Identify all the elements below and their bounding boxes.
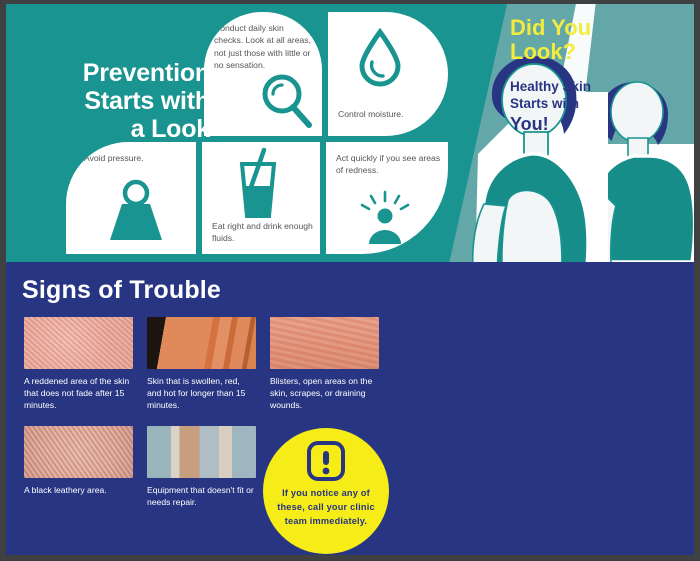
sign-caption: A black leathery area.: [24, 484, 133, 496]
did-you-look-heading: Did You Look?: [510, 16, 686, 64]
sign-item-blisters-open-areas: Blisters, open areas on the skin, scrape…: [270, 317, 379, 412]
sign-item-swollen-red-hot: Skin that is swollen, red, and hot for l…: [147, 317, 256, 412]
alert-text: If you notice any of these, call your cl…: [270, 487, 382, 528]
healthy-line-2: Starts with: [510, 95, 686, 112]
tile-avoid-pressure: Avoid pressure.: [66, 142, 196, 254]
signs-row-1: A reddened area of the skin that does no…: [24, 317, 380, 412]
tile-caption: Act quickly if you see areas of redness.: [336, 152, 446, 177]
tile-caption: Avoid pressure.: [84, 152, 194, 164]
tile-caption: Conduct daily skin checks. Look at all a…: [214, 22, 314, 72]
healthy-line-1: Healthy Skin: [510, 78, 686, 95]
headline-line-1: Prevention: [30, 59, 210, 87]
healthy-skin-subheading: Healthy Skin Starts with You!: [510, 78, 686, 136]
tile-caption: Eat right and drink enough fluids.: [212, 220, 316, 245]
did-you-line: Did You: [510, 16, 686, 40]
healthy-line-3: You!: [510, 113, 686, 136]
tile-control-moisture: Control moisture.: [328, 12, 448, 136]
tile-conduct-skin-checks: Conduct daily skin checks. Look at all a…: [204, 12, 322, 136]
alert-badge: If you notice any of these, call your cl…: [263, 428, 389, 554]
headline-line-3: a Look: [30, 115, 210, 143]
prevention-headline: Prevention Starts with a Look: [30, 59, 210, 143]
leathery-skin-photo: [24, 426, 133, 478]
sign-item-reddened-area: A reddened area of the skin that does no…: [24, 317, 133, 412]
poster-artwork: Prevention Starts with a Look Conduct da…: [6, 4, 694, 555]
sign-item-black-leathery: A black leathery area.: [24, 426, 133, 508]
sign-caption: Skin that is swollen, red, and hot for l…: [147, 375, 256, 412]
look-line: Look?: [510, 40, 686, 64]
blistered-skin-photo: [270, 317, 379, 369]
tile-caption: Control moisture.: [338, 108, 446, 120]
sign-caption: Blisters, open areas on the skin, scrape…: [270, 375, 379, 412]
exclamation-mark-icon: [306, 440, 346, 482]
reddened-skin-photo: [24, 317, 133, 369]
poster: Prevention Starts with a Look Conduct da…: [0, 0, 700, 561]
sign-caption: A reddened area of the skin that does no…: [24, 375, 133, 412]
signs-of-trouble-title: Signs of Trouble: [22, 276, 221, 305]
sign-caption: Equipment that doesn't fit or needs repa…: [147, 484, 256, 508]
tile-act-quickly: Act quickly if you see areas of redness.: [326, 142, 448, 254]
leg-brace-equipment-photo: [147, 426, 256, 478]
sign-item-equipment-fit: Equipment that doesn't fit or needs repa…: [147, 426, 256, 508]
tile-eat-right: Eat right and drink enough fluids.: [202, 142, 320, 254]
headline-line-2: Starts with: [30, 87, 210, 115]
swollen-hand-photo: [147, 317, 256, 369]
